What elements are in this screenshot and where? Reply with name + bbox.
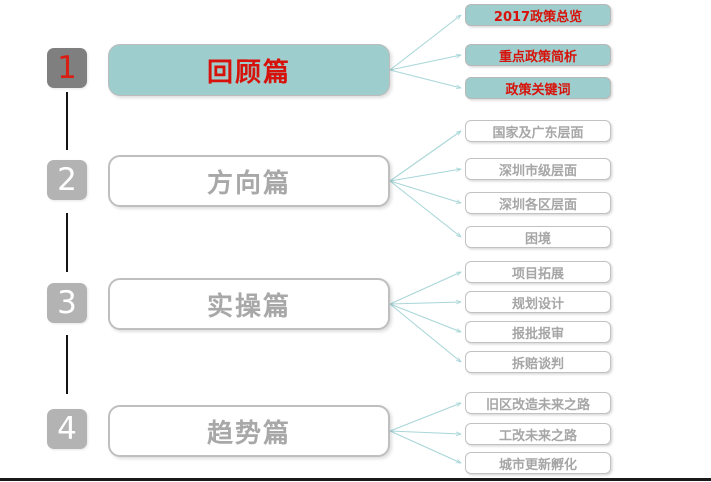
section-number-3: 3 bbox=[57, 288, 77, 319]
leaf-label-3-2: 规划设计 bbox=[512, 293, 564, 312]
connector-2-1 bbox=[390, 131, 461, 181]
leaf-box-3-3[interactable]: 报批报审 bbox=[465, 321, 611, 343]
leaf-label-1-3: 政策关键词 bbox=[505, 79, 570, 98]
connector-2-2 bbox=[390, 169, 461, 181]
section-badge-3[interactable]: 3 bbox=[47, 283, 87, 323]
connector-4-2 bbox=[390, 431, 461, 434]
section-title-2: 方向篇 bbox=[207, 163, 291, 200]
connector-3-1 bbox=[390, 272, 461, 304]
leaf-box-3-1[interactable]: 项目拓展 bbox=[465, 261, 611, 283]
section-box-2[interactable]: 方向篇 bbox=[108, 155, 390, 207]
leaf-box-4-2[interactable]: 工改未来之路 bbox=[465, 423, 611, 445]
leaf-box-4-3[interactable]: 城市更新孵化 bbox=[465, 452, 611, 474]
connector-3-4 bbox=[390, 304, 461, 362]
connector-2-3 bbox=[390, 181, 461, 203]
section-number-2: 2 bbox=[57, 165, 77, 196]
leaf-label-2-3: 深圳各区层面 bbox=[499, 194, 577, 213]
leaf-box-2-1[interactable]: 国家及广东层面 bbox=[465, 120, 611, 142]
leaf-box-1-1[interactable]: 2017政策总览 bbox=[465, 4, 611, 26]
leaf-label-3-4: 拆赔谈判 bbox=[512, 353, 564, 372]
leaf-box-3-4[interactable]: 拆赔谈判 bbox=[465, 351, 611, 373]
leaf-label-4-1: 旧区改造未来之路 bbox=[486, 394, 590, 413]
connector-1-2 bbox=[390, 55, 461, 70]
leaf-label-1-1: 2017政策总览 bbox=[494, 6, 582, 25]
section-badge-2[interactable]: 2 bbox=[47, 160, 87, 200]
leaf-label-1-2: 重点政策简析 bbox=[499, 46, 577, 65]
connector-4-1 bbox=[390, 403, 461, 431]
section-number-4: 4 bbox=[57, 414, 77, 445]
section-title-3: 实操篇 bbox=[207, 286, 291, 323]
leaf-box-2-3[interactable]: 深圳各区层面 bbox=[465, 192, 611, 214]
connector-1-3 bbox=[390, 70, 461, 88]
connector-4-3 bbox=[390, 431, 461, 463]
connector-1-1 bbox=[390, 15, 461, 70]
leaf-box-3-2[interactable]: 规划设计 bbox=[465, 291, 611, 313]
timeline-spine-1-2 bbox=[66, 92, 68, 150]
section-badge-4[interactable]: 4 bbox=[47, 409, 87, 449]
section-title-4: 趋势篇 bbox=[207, 413, 291, 450]
leaf-box-4-1[interactable]: 旧区改造未来之路 bbox=[465, 392, 611, 414]
connector-2-4 bbox=[390, 181, 461, 237]
leaf-label-3-3: 报批报审 bbox=[512, 323, 564, 342]
leaf-label-3-1: 项目拓展 bbox=[512, 263, 564, 282]
connector-3-3 bbox=[390, 304, 461, 332]
section-box-3[interactable]: 实操篇 bbox=[108, 278, 390, 330]
section-badge-1[interactable]: 1 bbox=[47, 48, 87, 88]
leaf-label-4-3: 城市更新孵化 bbox=[499, 454, 577, 473]
leaf-label-2-4: 困境 bbox=[525, 228, 551, 247]
leaf-box-2-4[interactable]: 困境 bbox=[465, 226, 611, 248]
leaf-label-2-2: 深圳市级层面 bbox=[499, 160, 577, 179]
leaf-box-2-2[interactable]: 深圳市级层面 bbox=[465, 158, 611, 180]
section-box-1[interactable]: 回顾篇 bbox=[108, 44, 390, 96]
leaf-label-2-1: 国家及广东层面 bbox=[492, 122, 583, 141]
bottom-divider bbox=[0, 478, 711, 481]
timeline-spine-2-3 bbox=[66, 213, 68, 272]
section-box-4[interactable]: 趋势篇 bbox=[108, 405, 390, 457]
slide-canvas: 1 回顾篇 2017政策总览 重点政策简析 政策关键词 2 方向篇 国家及广东层… bbox=[0, 0, 711, 482]
section-number-1: 1 bbox=[57, 53, 77, 84]
leaf-box-1-2[interactable]: 重点政策简析 bbox=[465, 44, 611, 66]
leaf-box-1-3[interactable]: 政策关键词 bbox=[465, 77, 611, 99]
leaf-label-4-2: 工改未来之路 bbox=[499, 425, 577, 444]
connector-3-2 bbox=[390, 302, 461, 304]
timeline-spine-3-4 bbox=[66, 335, 68, 394]
section-title-1: 回顾篇 bbox=[207, 52, 291, 89]
